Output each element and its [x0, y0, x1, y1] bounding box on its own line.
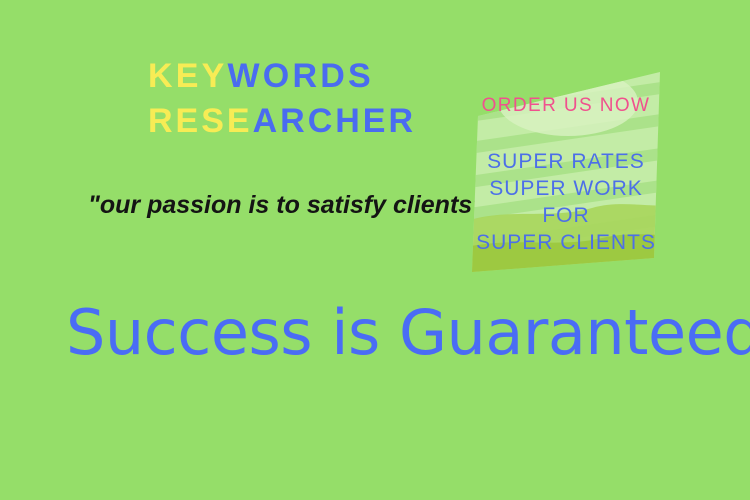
promo-line-1: SUPER RATES — [472, 148, 660, 175]
brand-wordmark: KEYWORDS RESEARCHER — [148, 54, 448, 144]
brand-line-keywords: KEYWORDS — [148, 54, 448, 99]
promo-line-4: SUPER CLIENTS — [472, 229, 660, 256]
promo-line-3: FOR — [472, 202, 660, 229]
brand-line-keywords-highlight: KEY — [148, 57, 228, 95]
brand-line-researcher-highlight: RESE — [148, 102, 253, 140]
promo-panel: ORDER US NOW SUPER RATES SUPER WORK FOR … — [472, 62, 660, 278]
brand-line-researcher: RESEARCHER — [148, 99, 448, 144]
headline: Success is Guaranteed — [66, 296, 750, 370]
brand-line-researcher-rest: ARCHER — [253, 102, 416, 140]
promo-banner: KEYWORDS RESEARCHER "our passion is to s… — [0, 0, 750, 500]
promo-panel-text: ORDER US NOW SUPER RATES SUPER WORK FOR … — [472, 62, 660, 278]
promo-benefit-lines: SUPER RATES SUPER WORK FOR SUPER CLIENTS — [472, 148, 660, 256]
tagline: "our passion is to satisfy clients" — [88, 190, 484, 220]
promo-line-2: SUPER WORK — [472, 175, 660, 202]
brand-line-keywords-rest: WORDS — [228, 57, 374, 95]
promo-order-label: ORDER US NOW — [472, 95, 660, 117]
